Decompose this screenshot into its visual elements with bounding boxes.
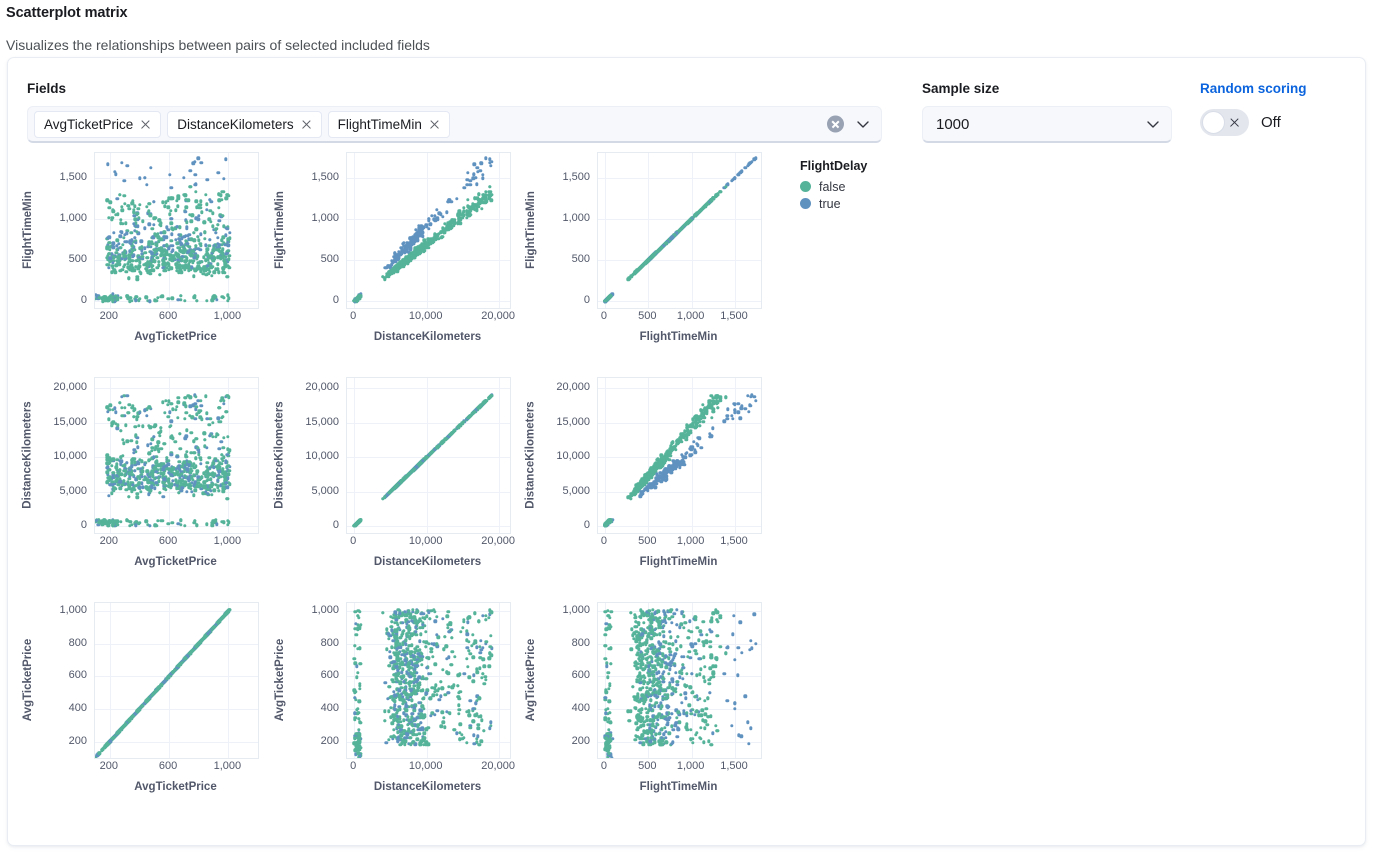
data-point [176,416,179,419]
data-point [665,241,668,244]
data-point [203,481,206,484]
remove-field-icon[interactable] [301,119,312,130]
data-point [216,223,219,226]
gridline-horizontal [598,301,761,302]
data-point [466,171,469,174]
x-tick-label: 600 [159,310,177,322]
data-point [637,267,640,270]
x-tick-label: 1,000 [214,535,242,547]
data-point [110,464,113,467]
data-point [163,411,166,414]
data-point [206,178,209,181]
data-point [135,441,138,444]
scatter-cell-AvgTicketPrice-vs-FlightTimeMin[interactable]: FlightTimeMin05001,0001,5002006001,000Av… [20,150,270,375]
data-point [211,435,214,438]
data-point [118,468,121,471]
data-point [671,235,674,238]
data-point [127,277,130,280]
data-point [719,190,722,193]
data-point [157,260,160,263]
y-tick-label: 10,000 [305,450,339,462]
data-point [152,435,155,438]
data-point [200,404,203,407]
data-point [158,273,161,276]
x-tick-label: 0 [601,310,607,322]
y-axis-ticks: 05001,0001,500 [539,150,595,310]
y-axis-label: FlightTimeMin [272,150,288,310]
data-point [159,426,162,429]
fields-control: Fields AvgTicketPrice DistanceKilometers… [27,81,882,143]
plot-area[interactable] [94,377,259,534]
data-point [162,471,165,474]
data-point [203,231,206,234]
data-point [169,244,172,247]
y-tick-label: 5,000 [59,485,87,497]
data-point [124,222,127,225]
data-point [190,469,193,472]
gridline-vertical [427,153,428,308]
toggle-knob [1202,111,1225,134]
data-point [125,270,128,273]
data-point [123,406,126,409]
sample-size-value: 1000 [936,116,969,133]
data-point [149,214,152,217]
data-point [463,186,466,189]
data-point [153,487,156,490]
data-point [185,429,188,432]
data-point [193,451,196,454]
data-point [143,409,146,412]
data-point [206,461,209,464]
y-tick-label: 15,000 [305,416,339,428]
data-point [716,193,719,196]
data-point [122,441,125,444]
data-point [221,446,224,449]
random-scoring-state: Off [1261,114,1281,131]
data-point [177,401,180,404]
data-point [194,190,197,193]
data-point [176,205,179,208]
data-point [199,233,202,236]
data-point [182,251,185,254]
data-point [136,495,139,498]
data-point [130,231,133,234]
scatter-cell-DistanceKilometers-vs-DistanceKilometers[interactable]: DistanceKilometers05,00010,00015,00020,0… [272,375,522,600]
data-point [189,169,192,172]
data-point [222,267,225,270]
data-point [168,425,171,428]
data-point [199,462,202,465]
data-point [203,432,206,435]
gridline-horizontal [347,457,510,458]
data-point [136,218,139,221]
x-axis-ticks: 2006001,000 [94,310,257,326]
gridline-horizontal [347,492,510,493]
x-axis-label: FlightTimeMin [597,331,760,343]
fields-label: Fields [27,81,882,96]
data-point [124,424,127,427]
data-point [480,207,483,210]
data-point [442,231,445,234]
data-point [157,264,160,267]
y-axis-label: FlightTimeMin [20,150,36,310]
data-point [136,278,139,281]
data-point [227,244,230,247]
x-tick-label: 600 [159,535,177,547]
y-tick-label: 1,000 [59,212,87,224]
data-point [169,486,172,489]
data-point [629,275,632,278]
remove-field-icon[interactable] [140,119,151,130]
gridline-vertical [499,378,500,533]
data-point [126,164,129,167]
scatterplot-panel: Fields AvgTicketPrice DistanceKilometers… [7,57,1366,846]
data-point [221,214,224,217]
y-tick-label: 15,000 [53,416,87,428]
data-point [154,248,157,251]
random-scoring-toggle[interactable] [1200,109,1249,136]
data-point [138,176,141,179]
data-point [121,222,124,225]
data-point [208,270,211,273]
random-scoring-label[interactable]: Random scoring [1200,81,1307,96]
data-point [455,197,458,200]
gridline-vertical [110,153,111,308]
data-point [147,452,150,455]
data-point [608,295,611,298]
chevron-down-icon[interactable] [857,121,869,128]
y-tick-label: 1,000 [311,212,339,224]
scatter-cell-DistanceKilometers-vs-FlightTimeMin[interactable]: FlightTimeMin05001,0001,500010,00020,000… [272,150,522,375]
data-point [123,194,126,197]
x-tick-label: 1,000 [677,310,705,322]
data-point [122,236,125,239]
data-point [126,440,129,443]
data-point [157,441,160,444]
data-point [178,460,181,463]
gridline-horizontal [95,526,258,527]
data-point [200,476,203,479]
data-point [218,219,221,222]
y-tick-label: 1,500 [311,171,339,183]
data-point [182,476,185,479]
x-axis-ticks: 010,00020,000 [346,310,509,326]
y-tick-label: 0 [584,294,590,306]
data-point [131,254,134,257]
data-point [132,409,135,412]
page-title: Scatterplot matrix [6,5,128,21]
data-point [123,474,126,477]
y-tick-label: 1,000 [562,212,590,224]
plot-area[interactable] [597,152,762,309]
data-point [217,171,220,174]
data-point [112,231,115,234]
data-point [218,406,221,409]
data-point [199,248,202,251]
data-point [466,198,469,201]
data-point [119,429,122,432]
data-point [208,456,211,459]
x-axis-label: AvgTicketPrice [94,331,257,343]
data-point [181,486,184,489]
data-point [203,438,206,441]
data-point [136,415,139,418]
data-point [184,396,187,399]
data-point [211,212,214,215]
data-point [152,223,155,226]
data-point [196,218,199,221]
data-point [194,173,197,176]
gridline-horizontal [598,219,761,220]
data-point [180,271,183,274]
data-point [157,476,160,479]
field-pill-label: AvgTicketPrice [44,117,133,132]
x-axis-label: DistanceKilometers [346,331,509,343]
data-point [192,231,195,234]
data-point [660,246,663,249]
data-point [134,241,137,244]
data-point [127,495,130,498]
data-point [478,202,481,205]
data-point [218,447,221,450]
data-point [121,414,124,417]
gridline-vertical [354,378,355,533]
data-point [195,228,198,231]
gridline-vertical [692,153,693,308]
data-point [185,206,188,209]
gridline-vertical [499,153,500,308]
data-point [195,437,198,440]
data-point [205,411,208,414]
data-point [143,227,146,230]
data-point [427,217,430,220]
data-point [204,394,207,397]
data-point [149,166,152,169]
data-point [118,259,121,262]
data-point [114,173,117,176]
x-tick-label: 20,000 [481,310,515,322]
sample-size-select[interactable]: 1000 [922,106,1172,143]
data-point [484,156,487,159]
data-point [131,249,134,252]
scatterplot-matrix-grid: FlightTimeMin05001,0001,5002006001,000Av… [8,150,798,840]
data-point [114,264,117,267]
data-point [737,173,740,176]
data-point [109,201,112,204]
data-point [456,222,459,225]
data-point [171,228,174,231]
data-point [169,217,172,220]
data-point [228,231,231,234]
y-axis-ticks: 05001,0001,500 [288,150,344,310]
data-point [119,520,122,523]
x-tick-label: 0 [350,310,356,322]
x-axis-ticks: 05001,0001,500 [597,310,760,326]
field-pill-label: DistanceKilometers [177,117,293,132]
data-point [219,440,222,443]
data-point [208,238,211,241]
data-point [640,264,643,267]
data-point [212,466,215,469]
y-tick-label: 0 [81,519,87,531]
gridline-horizontal [598,260,761,261]
data-point [137,522,140,525]
data-point [429,222,432,225]
gridline-horizontal [95,301,258,302]
matrix-row: FlightTimeMin05001,0001,5002006001,000Av… [8,150,798,375]
data-point [133,469,136,472]
data-point [675,231,678,234]
controls-row: Fields AvgTicketPrice DistanceKilometers… [8,58,1365,148]
data-point [194,183,197,186]
data-point [193,238,196,241]
data-point [185,490,188,493]
data-point [490,198,493,201]
remove-field-icon[interactable] [429,119,440,130]
data-point [131,269,134,272]
data-point [120,161,123,164]
data-point [199,244,202,247]
data-point [227,521,230,524]
data-point [136,445,139,448]
data-point [192,493,195,496]
field-pill[interactable]: DistanceKilometers [167,111,321,138]
y-axis-ticks: 05,00010,00015,00020,000 [288,375,344,535]
data-point [125,461,128,464]
data-point [170,233,173,236]
data-point [182,176,185,179]
y-tick-label: 500 [69,253,87,265]
data-point [228,237,231,240]
gridline-vertical [605,153,606,308]
data-point [143,462,146,465]
data-point [724,185,727,188]
data-point [171,296,174,299]
data-point [481,173,484,176]
plot-area[interactable] [346,152,511,309]
y-tick-label: 0 [333,519,339,531]
data-point [127,207,130,210]
data-point [193,294,196,297]
scatterplot-matrix-page: Scatterplot matrix Visualizes the relati… [0,0,1373,859]
data-point [217,271,220,274]
gridline-horizontal [347,301,510,302]
data-point [210,493,213,496]
data-point [197,156,200,159]
data-point [158,434,161,437]
data-point [710,199,713,202]
data-point [216,263,219,266]
data-point [177,396,180,399]
scatter-cell-FlightTimeMin-vs-FlightTimeMin[interactable]: FlightTimeMin05001,0001,50005001,0001,50… [523,150,773,375]
data-point [193,519,196,522]
chevron-down-icon[interactable] [1147,121,1159,128]
data-point [700,208,703,211]
data-point [137,424,140,427]
y-axis-label: DistanceKilometers [20,375,36,535]
data-point [170,239,173,242]
field-pill[interactable]: FlightTimeMin [328,111,450,138]
data-point [150,449,153,452]
data-point [184,405,187,408]
data-point [121,483,124,486]
data-point [459,222,462,225]
data-point [183,417,186,420]
data-point [123,179,126,182]
gridline-horizontal [95,178,258,179]
data-point [441,235,444,238]
data-point [477,193,480,196]
data-point [475,183,478,186]
data-point [138,411,141,414]
page-subtitle: Visualizes the relationships between pai… [6,37,430,53]
data-point [221,415,224,418]
y-tick-label: 1,500 [59,171,87,183]
data-point [159,447,162,450]
data-point [136,224,139,227]
plot-area[interactable] [346,377,511,534]
data-point [156,296,159,299]
data-point [139,490,142,493]
gridline-vertical [354,153,355,308]
y-tick-label: 20,000 [305,381,339,393]
fields-combobox[interactable]: AvgTicketPrice DistanceKilometers Flight… [27,106,882,143]
matrix-row: DistanceKilometers05,00010,00015,00020,0… [8,375,798,600]
data-point [141,470,144,473]
data-point [185,227,188,230]
data-point [122,265,125,268]
data-point [183,210,186,213]
data-point [175,199,178,202]
gridline-horizontal [95,388,258,389]
data-point [740,169,743,172]
plot-area[interactable] [94,152,259,309]
data-point [151,438,154,441]
gridline-horizontal [347,178,510,179]
data-point [148,223,151,226]
data-point [126,394,129,397]
data-point [192,274,195,277]
y-tick-label: 500 [572,253,590,265]
data-point [194,395,197,398]
sample-size-label: Sample size [922,81,1172,96]
data-point [199,458,202,461]
data-point [170,222,173,225]
data-point [488,185,491,188]
data-point [754,156,757,159]
data-point [149,442,152,445]
data-point [147,202,150,205]
gridline-horizontal [347,423,510,424]
gridline-horizontal [95,423,258,424]
x-tick-label: 10,000 [409,310,443,322]
data-point [170,402,173,405]
data-point [187,269,190,272]
data-point [203,237,206,240]
data-point [183,437,186,440]
data-point [228,448,231,451]
y-axis-ticks: 05,00010,00015,00020,000 [36,375,92,535]
data-point [481,177,484,180]
data-point [192,162,195,165]
clear-circle-icon[interactable] [827,116,844,133]
scatter-cell-AvgTicketPrice-vs-DistanceKilometers[interactable]: DistanceKilometers05,00010,00015,00020,0… [20,375,270,600]
data-point [110,218,113,221]
data-point [210,274,213,277]
field-pill[interactable]: AvgTicketPrice [34,111,161,138]
data-point [191,214,194,217]
data-point [130,439,133,442]
